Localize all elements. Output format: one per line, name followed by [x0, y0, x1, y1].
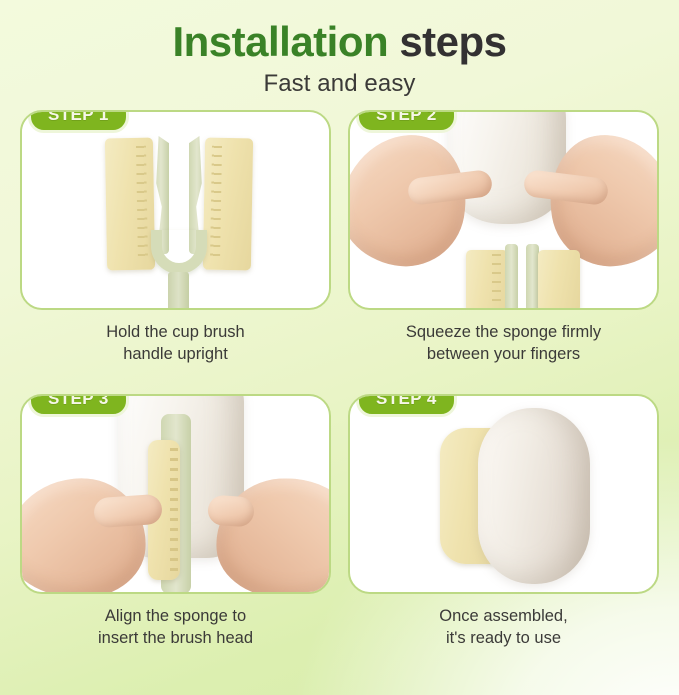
step-2-image-card: STEP 2 — [348, 110, 659, 310]
step-1-badge: STEP 1 — [28, 110, 129, 133]
page-title-primary: Installation — [172, 18, 388, 65]
brush-pad-left — [105, 138, 155, 271]
step-2-caption: Squeeze the sponge firmly between your f… — [348, 321, 659, 366]
step-3-caption: Align the sponge to insert the brush hea… — [20, 605, 331, 650]
sponge-spine-left — [505, 244, 518, 310]
step-1-image-card: STEP 1 — [20, 110, 331, 310]
page-subtitle: Fast and easy — [0, 70, 679, 98]
page-title: Installation steps — [0, 20, 679, 64]
step-card-4: STEP 4 Once assembled, it's ready to use — [348, 394, 659, 650]
handle-u-curve — [151, 230, 207, 274]
step-card-2: STEP 2 — [348, 110, 659, 366]
finger-left-thumb — [93, 493, 163, 528]
sponge-half-left — [466, 250, 508, 310]
sponge-half-right — [538, 250, 580, 310]
cup-body — [448, 110, 566, 224]
handle-stem — [168, 272, 189, 310]
brush-pad-right — [203, 138, 253, 271]
step-4-illustration — [350, 396, 657, 592]
step-3-badge: STEP 3 — [28, 394, 129, 417]
assembled-cover — [478, 408, 590, 584]
step-1-illustration — [22, 112, 329, 308]
header: Installation steps Fast and easy — [0, 0, 679, 98]
finger-right-thumb — [207, 494, 255, 527]
step-4-caption: Once assembled, it's ready to use — [348, 605, 659, 650]
steps-grid: STEP 1 — [0, 110, 679, 649]
bristles-right — [210, 146, 222, 262]
step-1-caption: Hold the cup brush handle upright — [20, 321, 331, 366]
sponge-strip-bristles — [170, 448, 178, 571]
installation-steps-page: Installation steps Fast and easy STEP 1 — [0, 0, 679, 695]
step-3-image-card: STEP 3 — [20, 394, 331, 594]
step-2-badge: STEP 2 — [356, 110, 457, 133]
sponge-bristles — [492, 254, 501, 309]
page-title-secondary: steps — [399, 18, 506, 65]
step-card-3: STEP 3 Align — [20, 394, 331, 650]
step-4-image-card: STEP 4 — [348, 394, 659, 594]
step-2-illustration — [350, 112, 657, 308]
bristles-left — [136, 146, 148, 262]
step-4-badge: STEP 4 — [356, 394, 457, 417]
step-card-1: STEP 1 — [20, 110, 331, 366]
step-3-illustration — [22, 396, 329, 592]
